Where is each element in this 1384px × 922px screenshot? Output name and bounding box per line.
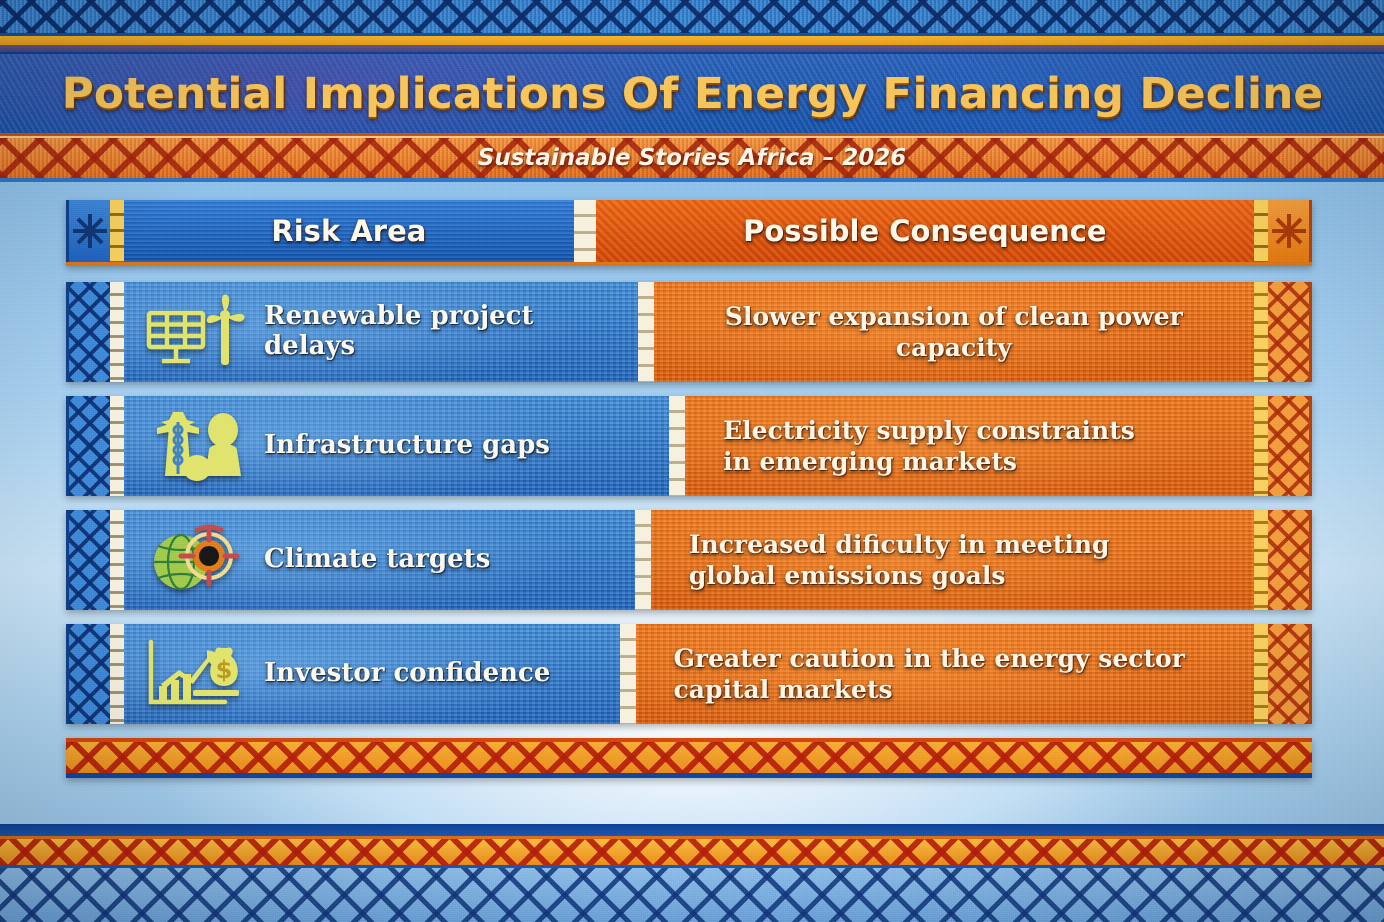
risk-area-label: Infrastructure gaps <box>264 431 550 461</box>
table-row: Infrastructure gaps Electricity supply c… <box>66 396 1312 496</box>
table-footer-border <box>66 738 1312 778</box>
power-pylon-icon <box>140 405 250 487</box>
starburst-motif-icon-left <box>66 200 110 262</box>
consequence-line: Increased dificulty in meeting <box>689 529 1110 560</box>
square-ladder-left <box>110 510 124 610</box>
bottom-navy-stripe <box>0 824 1384 836</box>
svg-text:$: $ <box>216 656 233 684</box>
consequence-cell: Electricity supply constraints in emergi… <box>685 396 1254 496</box>
infographic-poster: Potential Implications Of Energy Financi… <box>0 0 1384 922</box>
table-row: $ Investor confidence Greater caution in… <box>66 624 1312 724</box>
lattice-cap-left <box>66 282 110 382</box>
lattice-cap-left <box>66 396 110 496</box>
column-divider <box>635 510 651 610</box>
consequence-line: global emissions goals <box>689 560 1110 591</box>
consequence-text: Slower expansion of clean power capacity <box>670 301 1238 363</box>
lattice-cap-right <box>1268 624 1312 724</box>
top-chevron-border <box>0 0 1384 36</box>
top-gold-stripe <box>0 36 1384 45</box>
gold-ladder-left <box>110 200 124 262</box>
risk-area-label: Investor confidence <box>264 659 550 689</box>
page-title: Potential Implications Of Energy Financi… <box>61 69 1323 119</box>
risk-consequence-table: Risk Area Possible Consequence <box>66 200 1312 778</box>
header-column-divider <box>574 200 596 262</box>
column-divider <box>620 624 636 724</box>
gold-ladder-right <box>1254 200 1268 262</box>
bottom-chevron-border <box>0 868 1384 922</box>
square-ladder-right <box>1254 510 1268 610</box>
consequence-text: Electricity supply constraints in emergi… <box>701 415 1135 477</box>
starburst-motif-icon-right <box>1268 200 1312 262</box>
globe-target-icon <box>140 519 250 601</box>
consequence-line: Electricity supply constraints <box>723 415 1135 446</box>
lattice-cap-right <box>1268 510 1312 610</box>
table-row: Renewable project delays Slower expansio… <box>66 282 1312 382</box>
column-divider <box>669 396 685 496</box>
square-ladder-right <box>1254 624 1268 724</box>
consequence-line: Greater caution in the energy sector <box>674 643 1185 674</box>
consequence-line: in emerging markets <box>723 446 1135 477</box>
risk-cell: $ Investor confidence <box>124 624 620 724</box>
column-header-possible-consequence: Possible Consequence <box>596 200 1254 262</box>
lattice-cap-left <box>66 624 110 724</box>
title-bar: Potential Implications Of Energy Financi… <box>0 52 1384 136</box>
page-subtitle: Sustainable Stories Africa – 2026 <box>456 143 928 173</box>
bottom-gold-chevron-border <box>0 836 1384 868</box>
lattice-cap-right <box>1268 396 1312 496</box>
table-header-row: Risk Area Possible Consequence <box>66 200 1312 266</box>
risk-cell: Infrastructure gaps <box>124 396 669 496</box>
table-row: Climate targets Increased dificulty in m… <box>66 510 1312 610</box>
consequence-line: capital markets <box>674 674 1185 705</box>
square-ladder-right <box>1254 282 1268 382</box>
risk-cell: Climate targets <box>124 510 635 610</box>
consequence-cell: Greater caution in the energy sector cap… <box>636 624 1254 724</box>
solar-panel-wind-turbine-icon <box>140 291 250 373</box>
consequence-cell: Increased dificulty in meeting global em… <box>651 510 1254 610</box>
column-divider <box>638 282 654 382</box>
consequence-text: Increased dificulty in meeting global em… <box>667 529 1110 591</box>
risk-area-label: Renewable project delays <box>264 302 622 362</box>
square-ladder-left <box>110 396 124 496</box>
column-header-risk-area: Risk Area <box>124 200 574 262</box>
consequence-text: Greater caution in the energy sector cap… <box>652 643 1185 705</box>
lattice-cap-right <box>1268 282 1312 382</box>
square-ladder-left <box>110 282 124 382</box>
lattice-cap-left <box>66 510 110 610</box>
growth-chart-money-bag-icon: $ <box>140 633 250 715</box>
risk-cell: Renewable project delays <box>124 282 638 382</box>
square-ladder-left <box>110 624 124 724</box>
subtitle-bar: Sustainable Stories Africa – 2026 <box>0 136 1384 182</box>
risk-area-label: Climate targets <box>264 545 490 575</box>
consequence-cell: Slower expansion of clean power capacity <box>654 282 1254 382</box>
square-ladder-right <box>1254 396 1268 496</box>
